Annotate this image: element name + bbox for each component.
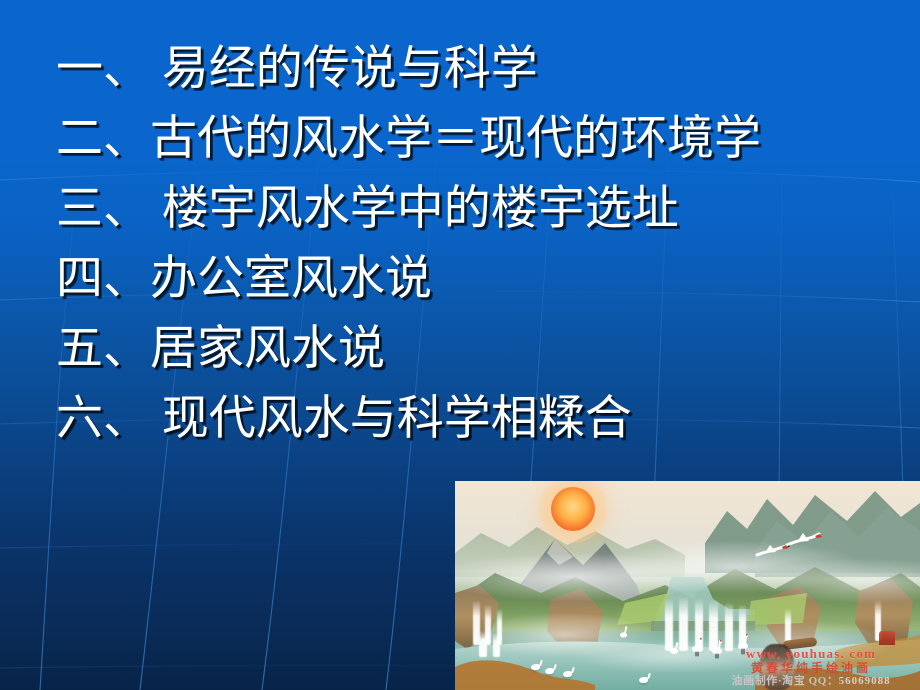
title-line-6: 六、 现代风水与科学相糅合 [0, 384, 920, 454]
swan-3 [563, 671, 572, 677]
title-list: 一、 易经的传说与科学 二、古代的风水学＝现代的环境学 三、 楼宇风水学中的楼宇… [0, 34, 920, 454]
crane-standing-4 [669, 641, 681, 657]
crane-standing-1 [691, 637, 705, 657]
swan-1 [531, 664, 540, 670]
painting-canvas: www. youhuas. com 黄春华纯手绘油画 油画制作·淘宝 QQ：56… [455, 481, 920, 690]
swan-2 [545, 668, 554, 674]
landscape-painting-image: www. youhuas. com 黄春华纯手绘油画 油画制作·淘宝 QQ：56… [455, 481, 920, 690]
title-line-5: 五、居家风水说 [0, 314, 920, 384]
crane-flying-2 [755, 541, 789, 561]
swan-4 [639, 677, 648, 683]
presentation-slide: 一、 易经的传说与科学 二、古代的风水学＝现代的环境学 三、 楼宇风水学中的楼宇… [0, 0, 920, 690]
crane-standing-3 [737, 633, 751, 655]
crane-standing-5 [619, 625, 629, 641]
title-line-1: 一、 易经的传说与科学 [0, 34, 920, 104]
title-line-3: 三、 楼宇风水学中的楼宇选址 [0, 174, 920, 244]
crane-standing-2 [711, 639, 725, 659]
red-pavilion [879, 631, 895, 645]
title-line-4: 四、办公室风水说 [0, 244, 920, 314]
sun-icon [551, 487, 595, 531]
watermark-portrait [760, 644, 794, 690]
title-line-2: 二、古代的风水学＝现代的环境学 [0, 104, 920, 174]
crane-flying-1 [785, 529, 823, 551]
